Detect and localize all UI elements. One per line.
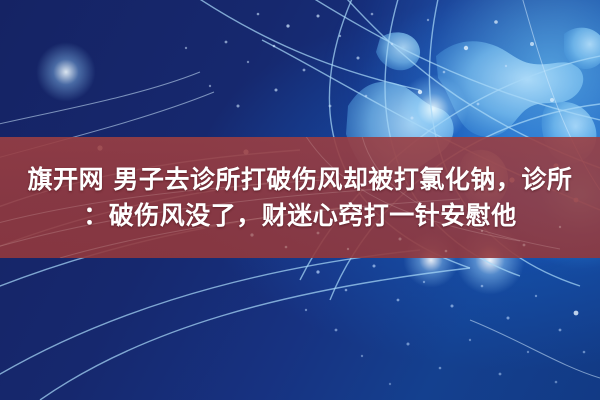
news-banner-image: 旗开网 男子去诊所打破伤风却被打氯化钠，诊所 ：破伤风没了，财迷心窍打一针安慰他 (0, 0, 600, 400)
headline-line-2: ：破伤风没了，财迷心窍打一针安慰他 (83, 201, 517, 231)
headline-line-1: 旗开网 男子去诊所打破伤风却被打氯化钠，诊所 (28, 165, 573, 195)
headline-text-block: 旗开网 男子去诊所打破伤风却被打氯化钠，诊所 ：破伤风没了，财迷心窍打一针安慰他 (0, 137, 600, 258)
